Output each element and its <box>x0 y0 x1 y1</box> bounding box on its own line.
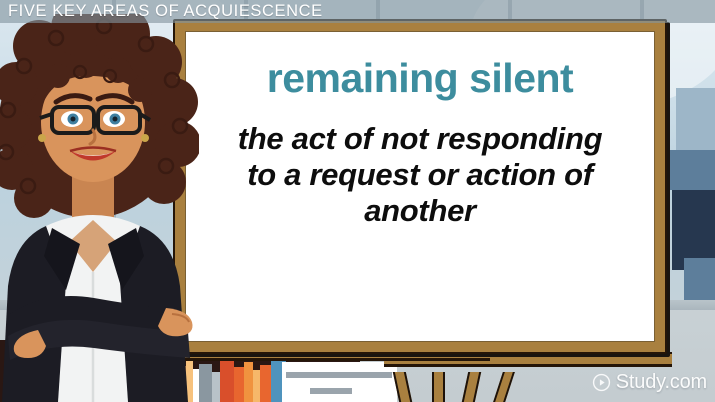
building-silhouette <box>684 258 715 303</box>
definition-line-3: another <box>238 193 603 229</box>
teacher-illustration <box>0 14 199 402</box>
building-silhouette <box>676 88 715 150</box>
easel-leg-center <box>432 372 445 402</box>
vocabulary-term: remaining silent <box>267 58 573 99</box>
book-spine <box>212 372 220 402</box>
book-spine <box>253 370 260 402</box>
definition-line-1: the act of not responding <box>238 121 603 157</box>
book-spine <box>244 362 253 402</box>
book-spine <box>199 364 212 402</box>
whiteboard-frame: remaining silent the act of not respondi… <box>173 19 667 354</box>
building-silhouette <box>668 150 715 190</box>
poster-text-line <box>310 388 352 394</box>
book-spine <box>260 365 271 402</box>
definition-line-2: to a request or action of <box>238 157 603 193</box>
lesson-title-bar: FIVE KEY AREAS OF ACQUIESCENCE <box>0 0 715 23</box>
study-com-watermark[interactable]: Study.com <box>592 371 707 394</box>
book-spine <box>234 367 244 402</box>
book-spine <box>220 358 234 402</box>
poster-text-line <box>286 372 392 378</box>
video-frame: remaining silent the act of not respondi… <box>0 0 715 402</box>
vocabulary-definition: the act of not responding to a request o… <box>238 121 603 229</box>
wall-poster <box>282 362 397 402</box>
lesson-title: FIVE KEY AREAS OF ACQUIESCENCE <box>0 2 323 21</box>
study-com-brand-text: Study.com <box>616 371 707 394</box>
play-circle-icon <box>592 373 611 392</box>
whiteboard-surface: remaining silent the act of not respondi… <box>185 31 655 342</box>
